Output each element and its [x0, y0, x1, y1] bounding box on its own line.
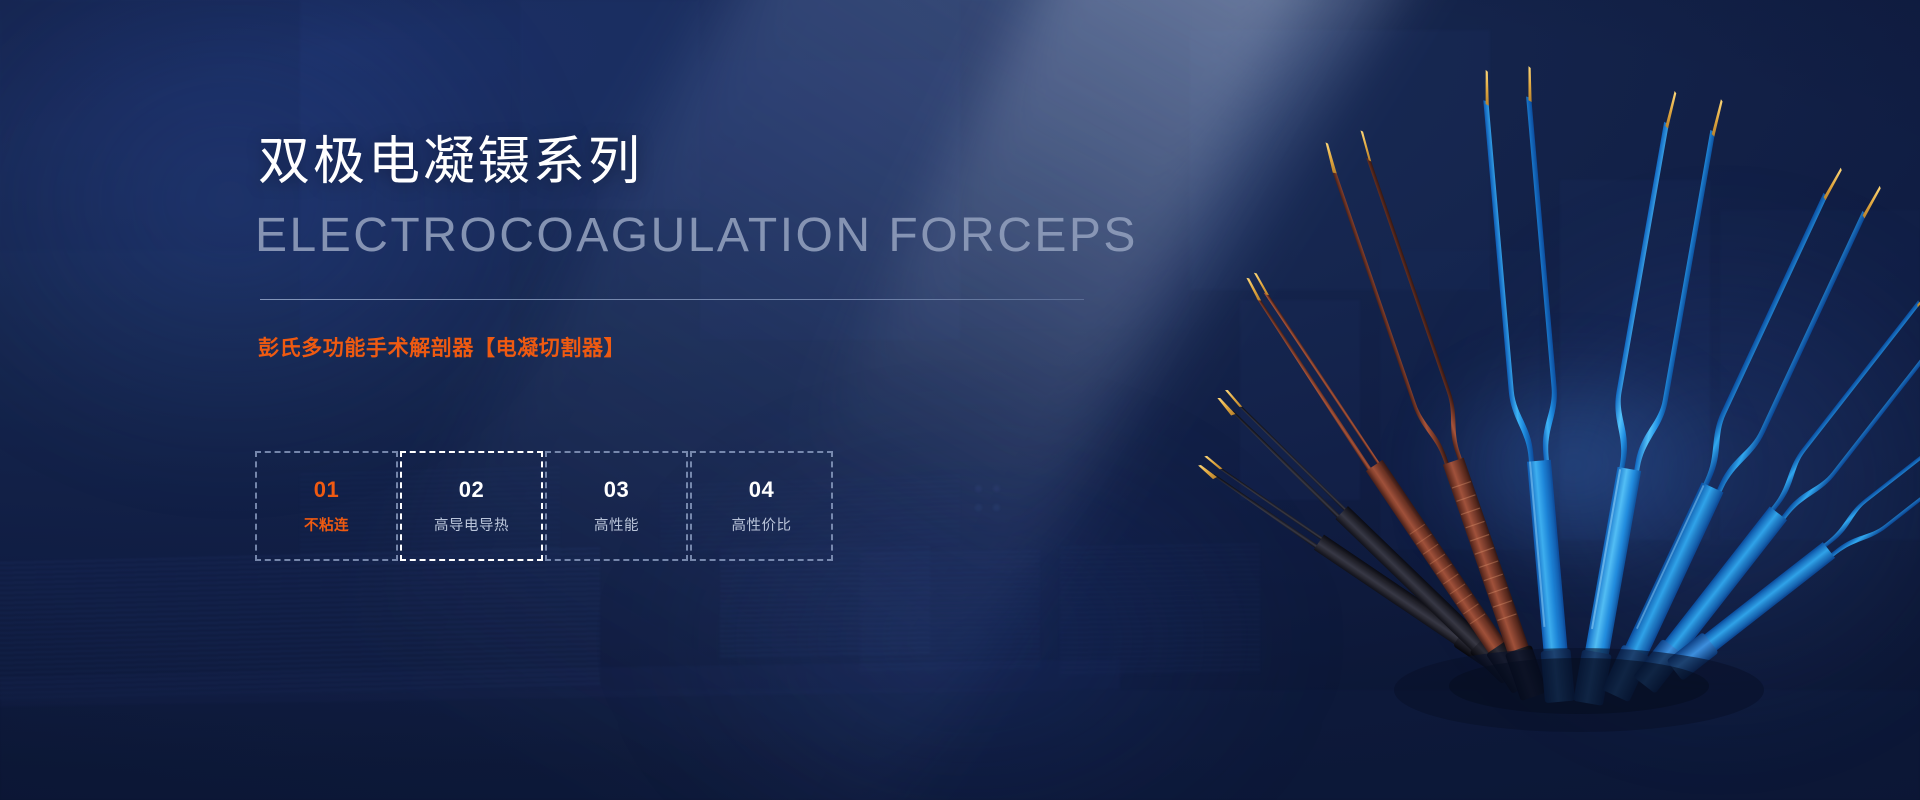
feature-number-04: 04 [749, 479, 774, 501]
forceps-fan-illustration [1164, 0, 1920, 800]
feature-label-01: 不粘连 [304, 519, 349, 534]
feature-number-02: 02 [459, 479, 484, 501]
feature-box-03[interactable]: 03 高性能 [545, 451, 688, 561]
product-tagline: 彭氏多功能手术解剖器【电凝切割器】 [258, 338, 625, 359]
glow-right [1340, 120, 1920, 800]
feature-number-03: 03 [604, 479, 629, 501]
product-banner: 双极电凝镊系列 ELECTROCOAGULATION FORCEPS 彭氏多功能… [0, 0, 1920, 800]
title-divider [260, 299, 1084, 300]
page-subtitle-english: ELECTROCOAGULATION FORCEPS [255, 212, 1138, 260]
feature-box-04[interactable]: 04 高性价比 [690, 451, 833, 561]
feature-box-01[interactable]: 01 不粘连 [255, 451, 398, 561]
feature-box-02[interactable]: 02 高导电导热 [400, 451, 543, 561]
banner-content: 双极电凝镊系列 ELECTROCOAGULATION FORCEPS 彭氏多功能… [258, 0, 1258, 800]
product-image-forceps [1164, 0, 1920, 800]
feature-label-02: 高导电导热 [434, 519, 509, 534]
page-title: 双极电凝镊系列 [258, 136, 643, 188]
feature-label-03: 高性能 [594, 519, 639, 534]
feature-list: 01 不粘连 02 高导电导热 03 高性能 04 高性价比 [255, 451, 835, 561]
feature-label-04: 高性价比 [732, 519, 792, 534]
feature-number-01: 01 [314, 479, 339, 501]
